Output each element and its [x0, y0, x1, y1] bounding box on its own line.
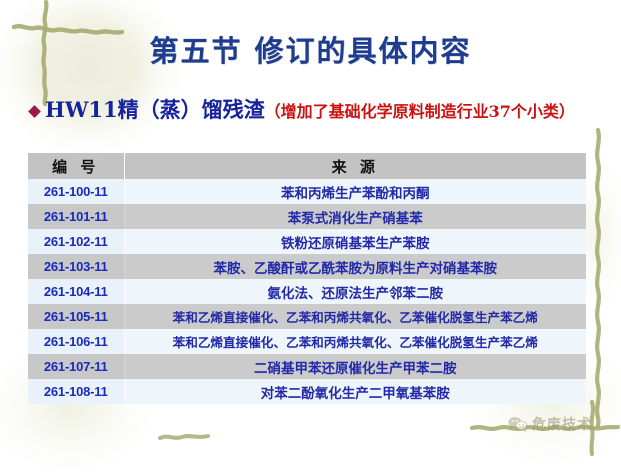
- section-heading-main: HW11精（蒸）馏残渣: [45, 97, 265, 122]
- column-header-source: 来 源: [124, 153, 586, 179]
- cell-source: 氨化法、还原法生产邻苯二胺: [124, 279, 586, 304]
- source-table: 编 号 来 源 261-100-11苯和丙烯生产苯酚和丙酮261-101-11苯…: [28, 153, 586, 404]
- cell-code: 261-103-11: [28, 254, 124, 279]
- table-row: 261-108-11对苯二酚氧化生产二甲氧基苯胺: [28, 379, 586, 404]
- cell-code: 261-102-11: [28, 229, 124, 254]
- cell-code: 261-106-11: [28, 329, 124, 354]
- brush-stroke-bottom-left-fleck: [158, 428, 210, 446]
- table-row: 261-102-11铁粉还原硝基苯生产苯胺: [28, 229, 586, 254]
- table-row: 261-104-11氨化法、还原法生产邻苯二胺: [28, 279, 586, 304]
- column-header-code: 编 号: [28, 153, 124, 179]
- watermark-text: 危废技术: [532, 414, 592, 434]
- source-table-wrapper: 编 号 来 源 261-100-11苯和丙烯生产苯酚和丙酮261-101-11苯…: [28, 153, 586, 404]
- table-row: 261-101-11苯泵式消化生产硝基苯: [28, 204, 586, 229]
- section-heading: HW11精（蒸）馏残渣（增加了基础化学原料制造行业37个小类）: [30, 96, 608, 124]
- slide-canvas: 第五节 修订的具体内容 HW11精（蒸）馏残渣（增加了基础化学原料制造行业37个…: [0, 0, 621, 475]
- page-title: 第五节 修订的具体内容: [0, 28, 621, 70]
- table-body: 261-100-11苯和丙烯生产苯酚和丙酮261-101-11苯泵式消化生产硝基…: [28, 179, 586, 404]
- section-heading-note: （增加了基础化学原料制造行业37个小类）: [265, 102, 575, 121]
- wechat-icon: [508, 416, 528, 432]
- cell-source: 苯泵式消化生产硝基苯: [124, 204, 586, 229]
- cell-source: 苯和乙烯直接催化、乙苯和丙烯共氧化、乙苯催化脱氢生产苯乙烯: [124, 304, 586, 329]
- watermark: 危废技术: [508, 414, 592, 434]
- cell-source: 苯和丙烯生产苯酚和丙酮: [124, 179, 586, 204]
- table-row: 261-103-11苯胺、乙酸酐或乙酰苯胺为原料生产对硝基苯胺: [28, 254, 586, 279]
- table-row: 261-107-11二硝基甲苯还原催化生产甲苯二胺: [28, 354, 586, 379]
- brush-stroke-cross-bottom-right: [470, 400, 620, 460]
- cell-code: 261-105-11: [28, 304, 124, 329]
- cell-source: 苯和乙烯直接催化、乙苯和丙烯共氧化、乙苯催化脱氢生产苯乙烯: [124, 329, 586, 354]
- brush-stroke-vertical-right: [588, 128, 610, 428]
- cell-code: 261-100-11: [28, 179, 124, 204]
- diamond-bullet-icon: [28, 105, 41, 118]
- cell-code: 261-101-11: [28, 204, 124, 229]
- table-row: 261-105-11苯和乙烯直接催化、乙苯和丙烯共氧化、乙苯催化脱氢生产苯乙烯: [28, 304, 586, 329]
- table-row: 261-100-11苯和丙烯生产苯酚和丙酮: [28, 179, 586, 204]
- cell-source: 对苯二酚氧化生产二甲氧基苯胺: [124, 379, 586, 404]
- cell-code: 261-107-11: [28, 354, 124, 379]
- cell-source: 铁粉还原硝基苯生产苯胺: [124, 229, 586, 254]
- table-header-row: 编 号 来 源: [28, 153, 586, 179]
- cell-source: 二硝基甲苯还原催化生产甲苯二胺: [124, 354, 586, 379]
- cell-code: 261-104-11: [28, 279, 124, 304]
- cell-source: 苯胺、乙酸酐或乙酰苯胺为原料生产对硝基苯胺: [124, 254, 586, 279]
- cell-code: 261-108-11: [28, 379, 124, 404]
- table-row: 261-106-11苯和乙烯直接催化、乙苯和丙烯共氧化、乙苯催化脱氢生产苯乙烯: [28, 329, 586, 354]
